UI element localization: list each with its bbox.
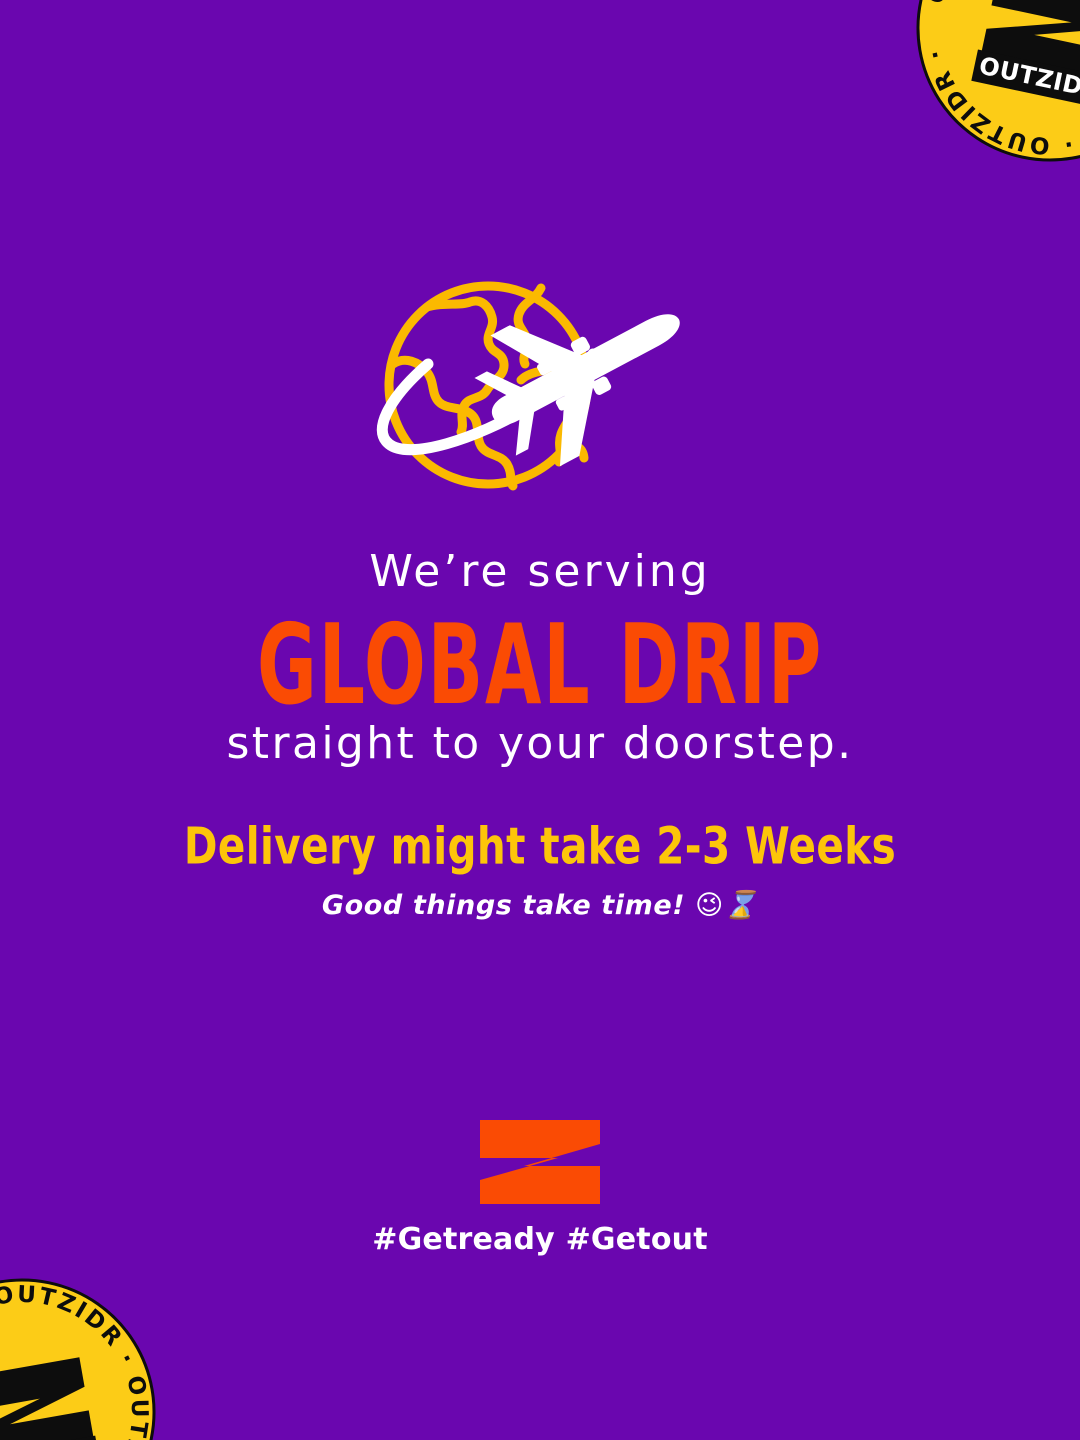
delivery-block: Delivery might take 2-3 Weeks Good thing… — [0, 820, 1080, 921]
outzidr-badge-bottom-left: OUTZIDR · OUTZIDR · OUTZIDR · OUTZIDR · … — [0, 1250, 184, 1440]
kicker-text: We’re serving — [0, 548, 1080, 596]
footer-block: #Getready #Getout — [0, 1118, 1080, 1257]
delivery-tagline: Good things take time! 😉⌛ — [0, 889, 1080, 921]
hashtags-text: #Getready #Getout — [0, 1222, 1080, 1257]
brand-z-logo — [0, 1118, 1080, 1206]
globe-airplane-illustration — [0, 272, 1080, 512]
z-mark-shape — [480, 1120, 600, 1204]
delivery-headline: Delivery might take 2-3 Weeks — [0, 820, 1080, 873]
headline-text: GLOBAL DRIP — [43, 610, 1037, 721]
outzidr-badge-top-right: OUTZIDR · OUTZIDR · OUTZIDR · OUTZIDR · … — [884, 0, 1080, 194]
headline-block: We’re serving GLOBAL DRIP straight to yo… — [0, 548, 1080, 768]
promo-poster: OUTZIDR · OUTZIDR · OUTZIDR · OUTZIDR · … — [0, 0, 1080, 1440]
